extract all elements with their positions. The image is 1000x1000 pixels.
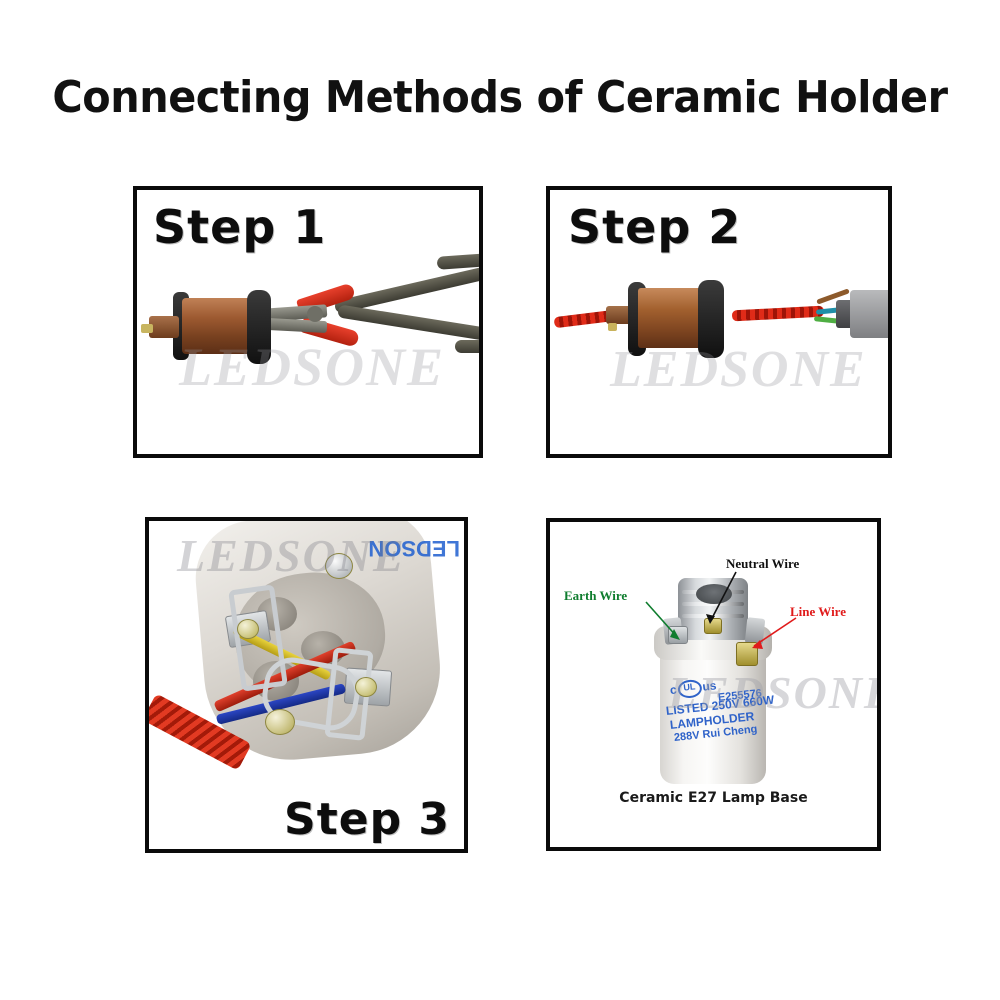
panel-step-2-artwork: LEDSONE Step 2	[550, 190, 888, 454]
panel-step-2: LEDSONE Step 2	[546, 186, 892, 458]
callout-neutral-wire: Neutral Wire	[726, 556, 799, 572]
watermark-ledsone: LEDSONE	[610, 340, 867, 399]
terminal-screw-top	[325, 553, 353, 579]
pliers-handle-upper-tail	[437, 251, 483, 270]
pliers-handle-lower	[337, 304, 483, 344]
page-title: Connecting Methods of Ceramic Holder	[30, 72, 970, 123]
pliers-pivot	[307, 306, 323, 322]
grey-socket-body	[850, 290, 892, 338]
step-label-1: Step 1	[153, 200, 326, 254]
red-braided-cable-right	[732, 306, 824, 322]
panel-step-3-artwork: LEDSONE LEDSONE Step 3	[149, 521, 464, 849]
panel-step-3: LEDSONE LEDSONE Step 3	[145, 517, 468, 853]
holder-brass-tip	[141, 324, 153, 333]
terminal-screw-bottom	[265, 709, 295, 735]
panel-diagram: cULus E255576 LISTED 250V 660W LAMPHOLDE…	[546, 518, 881, 851]
package-blue-label: LEDSONE	[368, 519, 460, 561]
panel-step-1: LEDSONE Step 1	[133, 186, 483, 458]
pliers-handle-lower-tail	[455, 340, 483, 353]
terminal-screw-left	[237, 619, 259, 639]
panel-diagram-artwork: cULus E255576 LISTED 250V 660W LAMPHOLDE…	[550, 522, 877, 847]
holder-ring-right	[247, 290, 271, 364]
callout-leader-lines	[550, 522, 877, 847]
step-label-2: Step 2	[568, 200, 741, 254]
callout-line-wire: Line Wire	[790, 604, 846, 620]
poster-root: Connecting Methods of Ceramic Holder LED…	[0, 0, 1000, 1000]
holder-screw	[608, 323, 617, 331]
panel-step-1-artwork: LEDSONE Step 1	[137, 190, 479, 454]
terminal-screw-right	[355, 677, 377, 697]
callout-earth-wire: Earth Wire	[564, 588, 627, 604]
holder-copper-body	[638, 288, 704, 348]
holder-end-cap	[149, 316, 179, 338]
step-label-3: Step 3	[284, 794, 450, 845]
holder-ring-right	[698, 280, 724, 358]
